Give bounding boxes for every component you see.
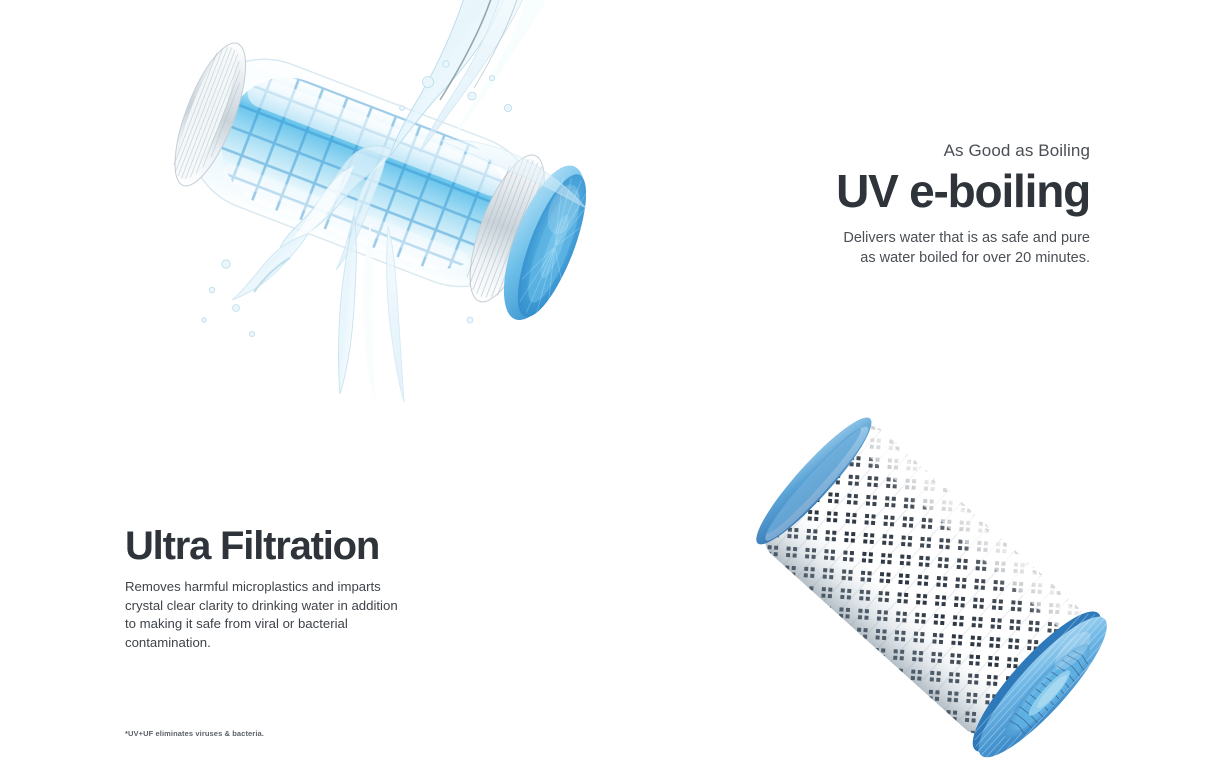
uv-description-line-2: as water boiled for over 20 minutes. — [860, 250, 1090, 266]
uv-title: UV e-boiling — [700, 164, 1090, 218]
footnote-disclaimer: *UV+UF eliminates viruses & bacteria. — [125, 729, 264, 739]
uv-description: Delivers water that is as safe and pure … — [700, 228, 1090, 268]
marketing-page: As Good as Boiling UV e-boiling Delivers… — [0, 0, 1214, 782]
uv-filter-cartridge-image — [140, 0, 650, 410]
ultra-filtration-description: Removes harmful microplastics and impart… — [125, 578, 405, 652]
ultra-filtration-text-block: Ultra Filtration Removes harmful micropl… — [125, 522, 455, 652]
ultra-filtration-title: Ultra Filtration — [125, 522, 455, 570]
uv-description-line-1: Delivers water that is as safe and pure — [843, 230, 1090, 246]
ultra-filtration-cartridge-image — [700, 415, 1170, 765]
uv-eyebrow: As Good as Boiling — [700, 140, 1090, 162]
uv-eboiling-text-block: As Good as Boiling UV e-boiling Delivers… — [700, 140, 1090, 268]
